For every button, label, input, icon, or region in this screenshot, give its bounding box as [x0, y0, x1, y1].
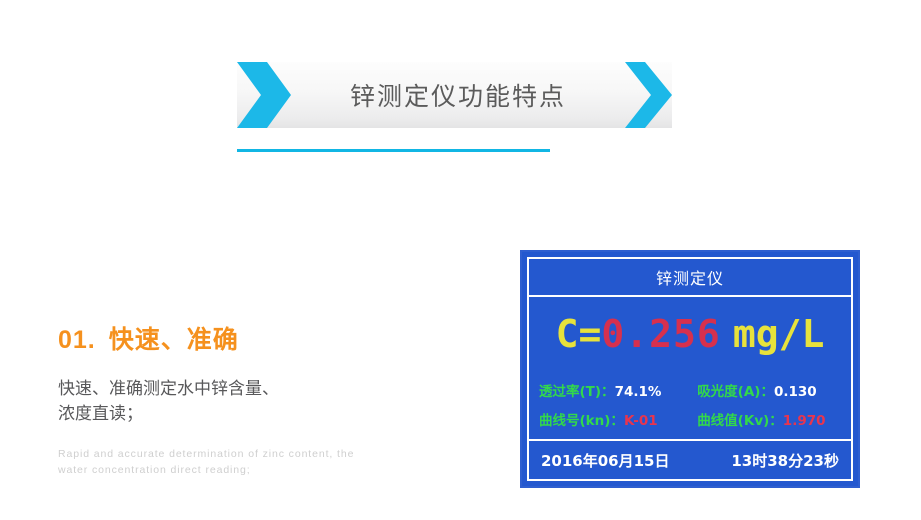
page-title: 锌测定仪功能特点	[291, 62, 625, 128]
feature-heading-text: 快速、准确	[109, 326, 239, 354]
concentration-label: C=	[556, 312, 602, 356]
stat-row: 曲线号(kn)：K-01 曲线值(Kv)：1.970	[539, 409, 841, 429]
zinc-meter-device: 锌测定仪 C=0.256mg/L 透过率(T)：74.1% 吸光度(A)：0.1…	[520, 250, 860, 488]
measurement-stats: 透过率(T)：74.1% 吸光度(A)：0.130 曲线号(kn)：K-01 曲…	[529, 353, 851, 439]
concentration-unit: mg/L	[733, 312, 825, 356]
feature-body-cn: 快速、准确测定水中锌含量、 浓度直读；	[58, 377, 388, 428]
curve-value-cell: 曲线值(Kv)：1.970	[697, 409, 841, 429]
transmittance-value: 74.1%	[615, 384, 662, 400]
transmittance-cell: 透过率(T)：74.1%	[539, 380, 697, 400]
transmittance-label: 透过率(T)：	[539, 384, 615, 400]
lcd-screen: 锌测定仪 C=0.256mg/L 透过率(T)：74.1% 吸光度(A)：0.1…	[527, 257, 853, 481]
curve-number-label: 曲线号(kn)：	[539, 413, 624, 429]
stat-row: 透过率(T)：74.1% 吸光度(A)：0.130	[539, 380, 841, 400]
title-banner: 锌测定仪功能特点	[237, 62, 672, 128]
curve-number-cell: 曲线号(kn)：K-01	[539, 409, 697, 429]
feature-body-en-line1: Rapid and accurate determination of zinc…	[58, 446, 388, 462]
feature-body-en: Rapid and accurate determination of zinc…	[58, 446, 388, 479]
feature-body-cn-line1: 快速、准确测定水中锌含量、	[58, 377, 388, 403]
feature-body-en-line2: water concentration direct reading;	[58, 462, 388, 478]
banner-divider-line	[237, 149, 550, 152]
lcd-footer: 2016年06月15日 13时38分23秒	[529, 441, 851, 479]
concentration-value: 0.256	[601, 312, 720, 356]
lcd-header-title: 锌测定仪	[529, 259, 851, 297]
lcd-main-area: C=0.256mg/L 透过率(T)：74.1% 吸光度(A)：0.130 曲	[529, 297, 851, 441]
curve-value-label: 曲线值(Kv)：	[697, 413, 783, 429]
slide-canvas: 锌测定仪功能特点 01.快速、准确 快速、准确测定水中锌含量、 浓度直读； Ra…	[0, 0, 921, 520]
feature-heading: 01.快速、准确	[58, 327, 388, 355]
device-date: 2016年06月15日	[541, 450, 670, 471]
feature-body-cn-line2: 浓度直读；	[58, 402, 388, 428]
absorbance-cell: 吸光度(A)：0.130	[697, 380, 841, 400]
absorbance-label: 吸光度(A)：	[697, 384, 774, 400]
device-time: 13时38分23秒	[731, 450, 839, 471]
absorbance-value: 0.130	[774, 384, 817, 400]
feature-block: 01.快速、准确 快速、准确测定水中锌含量、 浓度直读； Rapid and a…	[58, 327, 388, 478]
curve-value-value: 1.970	[783, 413, 826, 429]
concentration-reading: C=0.256mg/L	[529, 315, 851, 353]
feature-number: 01.	[58, 326, 96, 354]
curve-number-value: K-01	[624, 413, 658, 429]
